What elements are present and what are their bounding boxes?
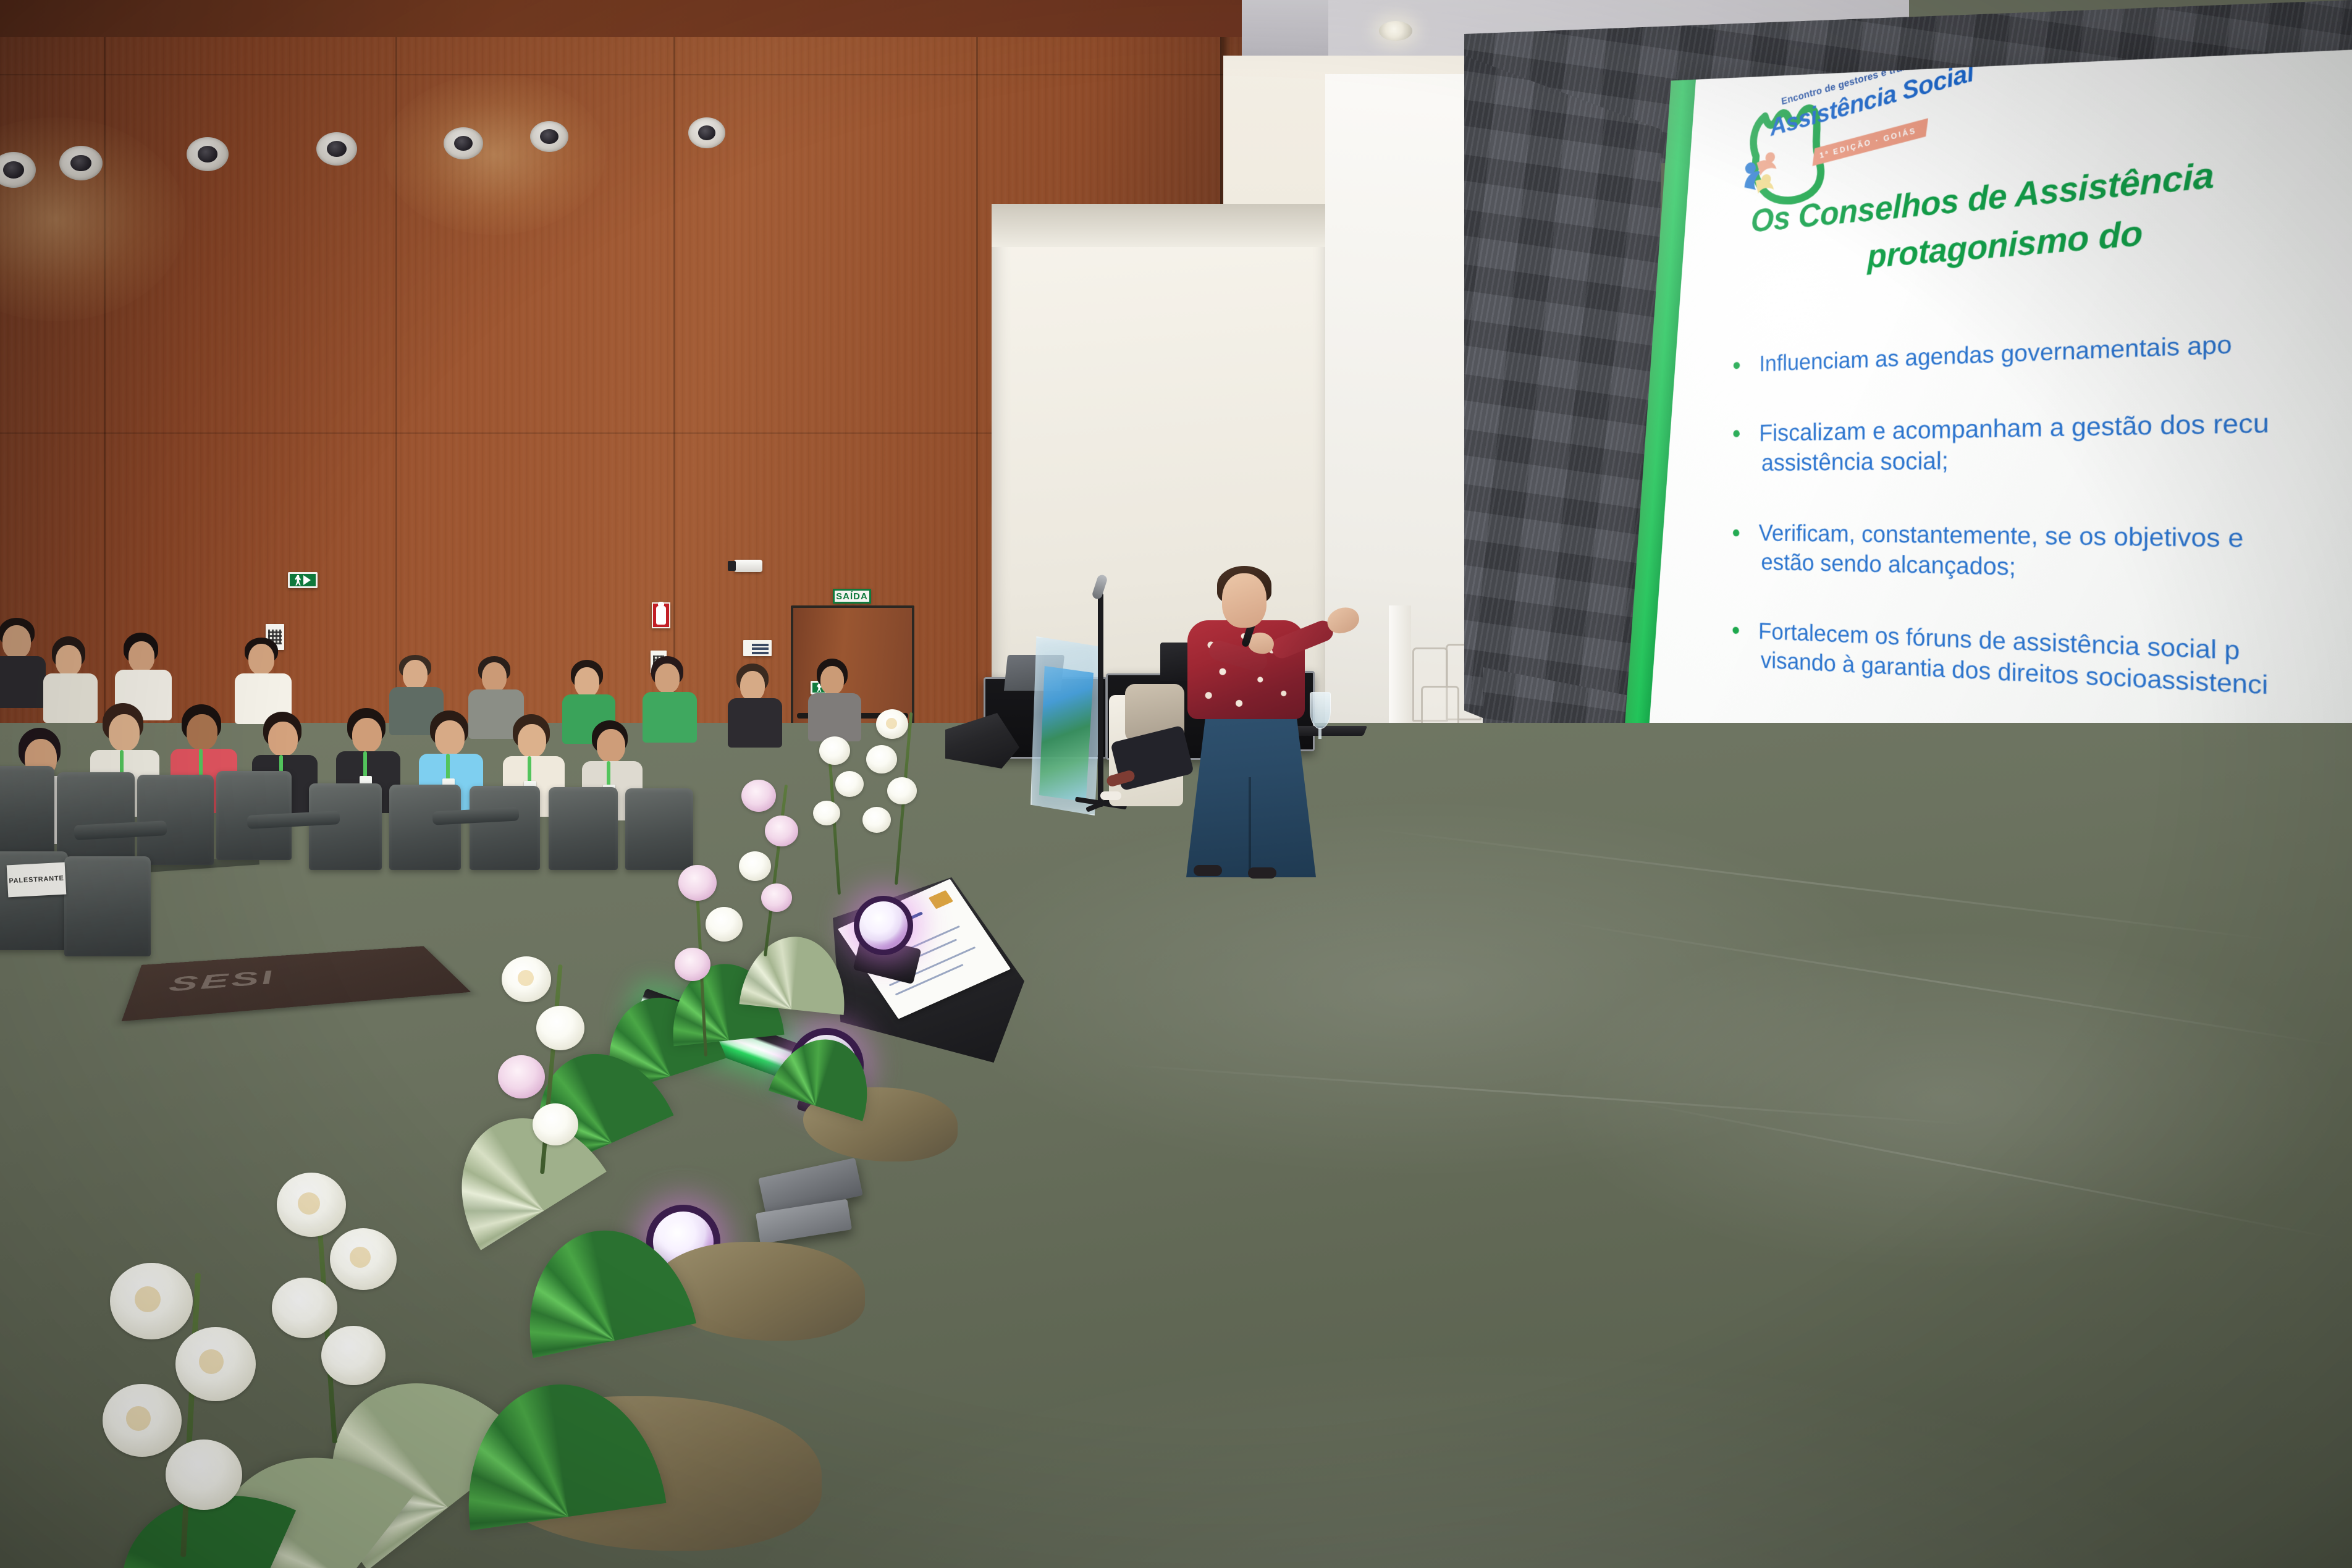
- orchid-flower: [536, 1006, 584, 1050]
- reserved-seat-sign: PALESTRANTE: [7, 862, 67, 898]
- bullet-line-2: estão sendo alcançados;: [1759, 547, 2352, 597]
- auditorium-seat[interactable]: [64, 856, 151, 956]
- orchid-flower: [835, 771, 864, 797]
- auditorium-seat[interactable]: [625, 788, 693, 870]
- emergency-exit-sign: [288, 572, 318, 588]
- orchid-flower: [739, 851, 771, 881]
- exit-running-man-icon: [295, 575, 301, 586]
- auditorium-seat[interactable]: [0, 766, 54, 859]
- shoe: [1100, 791, 1121, 800]
- orchid-flower: [761, 883, 792, 912]
- wall-speaker-port: [316, 132, 357, 166]
- wall-speaker-port: [59, 146, 103, 180]
- auditorium-seat[interactable]: [389, 785, 461, 870]
- presenter-shoe: [1194, 865, 1222, 876]
- presenter-on-stage: [1149, 556, 1409, 877]
- orchid-flower: [166, 1439, 242, 1510]
- presenter-shoe: [1248, 867, 1276, 879]
- orchid-flower: [321, 1326, 386, 1385]
- slide-bullet: Verificam, constantemente, se os objetiv…: [1722, 518, 2352, 597]
- presenter-head: [1222, 573, 1267, 628]
- bullet-line-1: Influenciam as agendas governamentais ap…: [1760, 331, 2232, 377]
- orchid-flower: [498, 1055, 545, 1098]
- orchid-flower: [862, 807, 891, 833]
- orchid-flower: [678, 865, 717, 901]
- room-plaque: [743, 640, 772, 656]
- exit-arrow-icon: [303, 575, 311, 585]
- orchid-flower: [706, 907, 743, 942]
- lectern-banner: [1039, 666, 1094, 802]
- wall-speaker-port: [530, 121, 568, 152]
- orchid-flower: [819, 736, 850, 765]
- orchid-flower: [741, 780, 776, 812]
- conference-photo-scene: SAÍDA FZ: [0, 0, 2352, 1568]
- par-light: [854, 896, 913, 955]
- bullet-line-1: Verificam, constantemente, se os objetiv…: [1759, 520, 2244, 553]
- auditorium-seat[interactable]: [137, 775, 214, 865]
- auditorium-seat[interactable]: [470, 786, 540, 870]
- saida-exit-sign: SAÍDA: [833, 589, 871, 604]
- security-camera: [734, 560, 762, 572]
- auditorium-seat[interactable]: [549, 787, 618, 870]
- orchid-flower: [675, 948, 710, 981]
- microphone-stand-pole: [1098, 593, 1103, 807]
- wall-speaker-port: [187, 137, 229, 171]
- floor-mat-label: SESI: [167, 966, 277, 997]
- auditorium-seat[interactable]: [309, 783, 382, 870]
- bullet-line-1: Fiscalizam e acompanham a gestão dos rec…: [1759, 408, 2269, 447]
- presenter-skirt: [1186, 704, 1316, 877]
- wall-speaker-port: [444, 127, 483, 159]
- slide-bullet: Fiscalizam e acompanham a gestão dos rec…: [1722, 398, 2352, 478]
- fire-extinguisher-sign: [652, 602, 670, 628]
- ceiling-downlight: [1379, 21, 1412, 41]
- fire-extinguisher-icon: [656, 606, 666, 625]
- orchid-flower: [765, 816, 798, 846]
- slide-bullet: Influenciam as agendas governamentais ap…: [1723, 311, 2352, 379]
- wall-speaker-port: [688, 117, 725, 148]
- auditorium-seat[interactable]: [57, 772, 135, 864]
- orchid-flower: [533, 1103, 578, 1145]
- orchid-flower: [813, 801, 840, 825]
- orchid-flower: [272, 1278, 337, 1338]
- slide-bullet: Fortalecem os fóruns de assistência soci…: [1722, 616, 2352, 722]
- orchid-flower: [866, 745, 897, 773]
- slide-bullet-list: Influenciam as agendas governamentais ap…: [1722, 311, 2352, 774]
- people-mark-icon: [1739, 150, 1786, 196]
- orchid-flower: [887, 777, 917, 804]
- alcove-header: [992, 204, 1325, 247]
